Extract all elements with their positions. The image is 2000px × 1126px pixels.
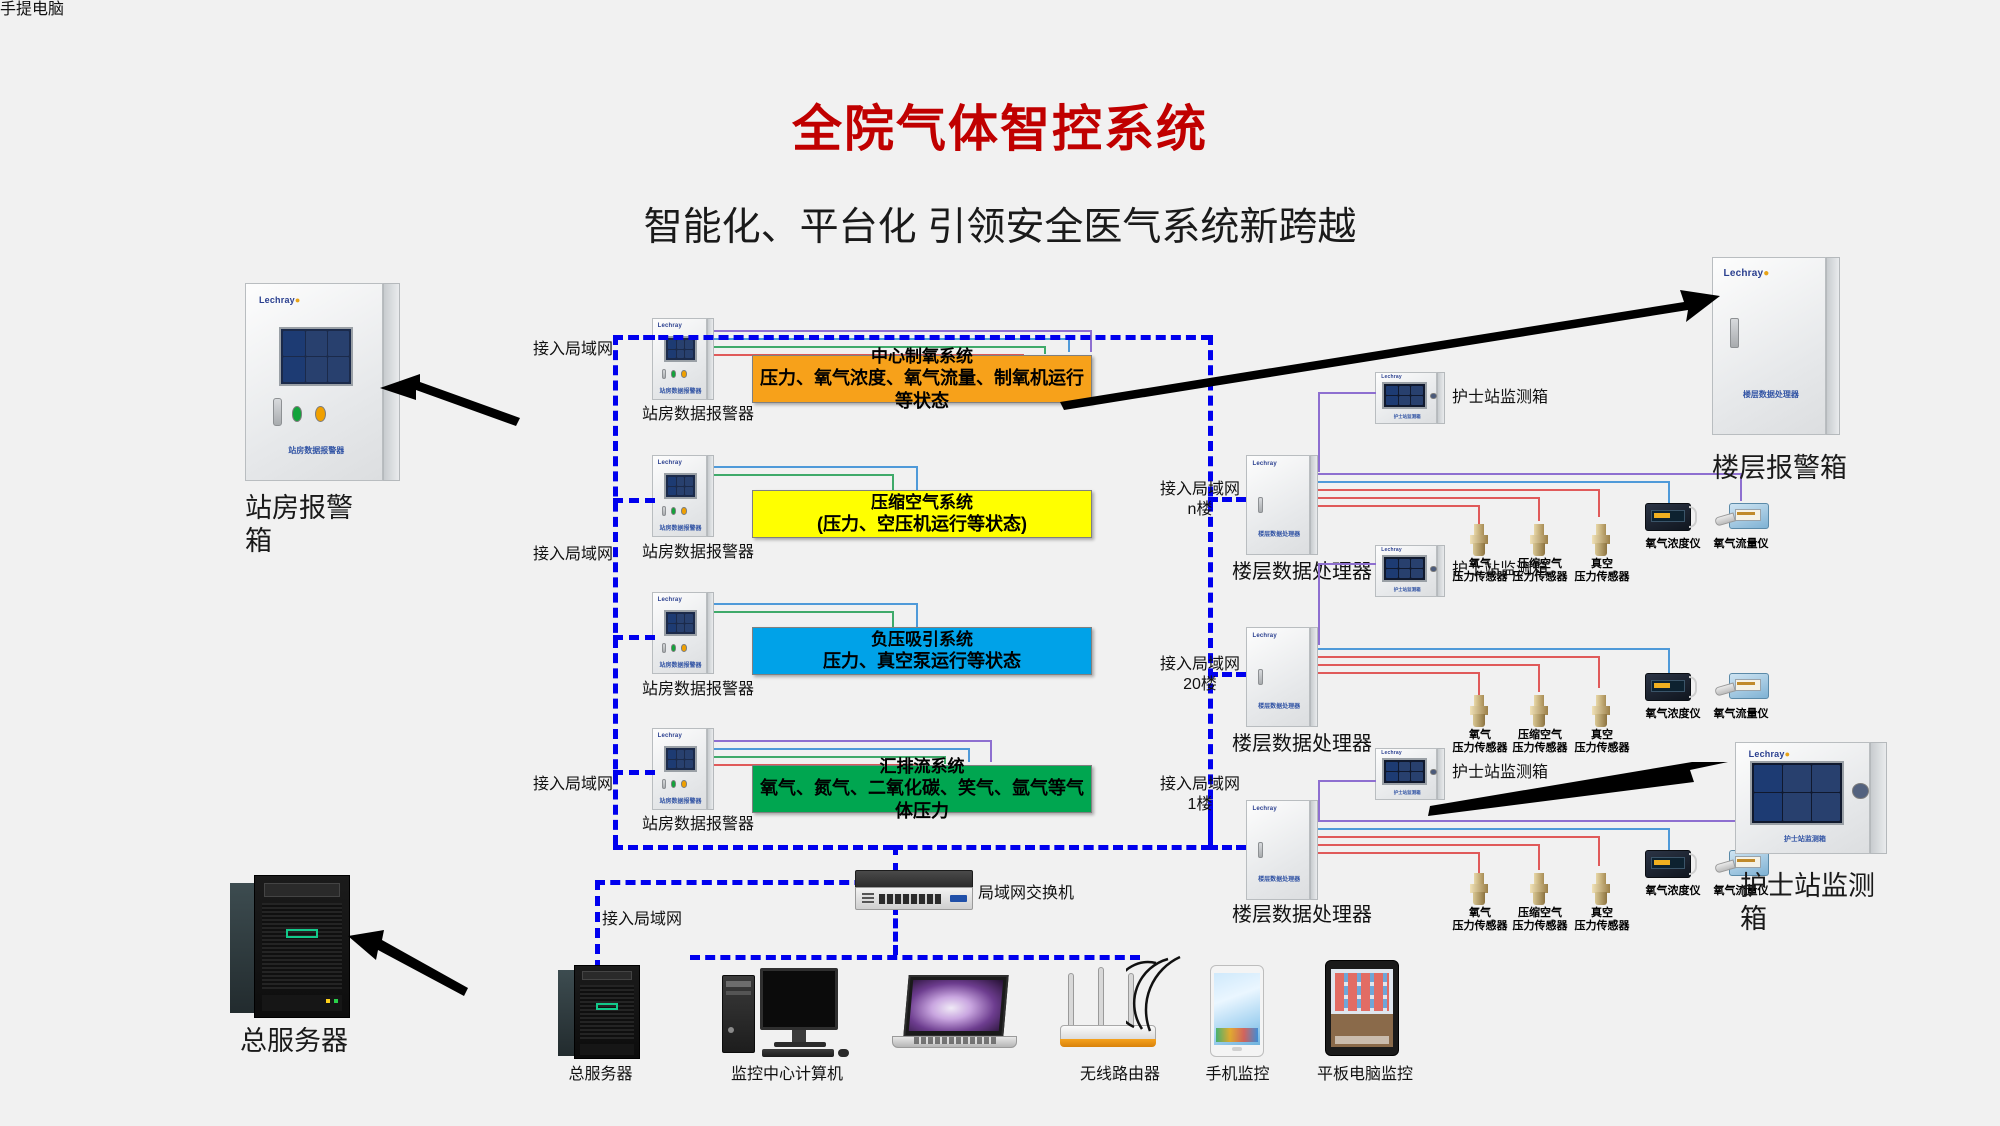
panel-handle-1 (662, 369, 666, 380)
system-name-1: 中心制氧系统 (871, 346, 973, 367)
brand-text-3: Lechray (1749, 749, 1785, 759)
panel-handle-3 (662, 643, 666, 654)
station-data-alarm-2: Lechray 站房数据报警器 (652, 455, 714, 537)
oxygen-concentration-meter-2 (1645, 850, 1697, 880)
sensor-label-2-2: 真空 压力传感器 (1562, 907, 1642, 933)
alarm-label-2: 站房数据报警器 (642, 543, 822, 563)
floor-nameplate-2: 楼层数据处理器 (1253, 874, 1305, 883)
panel-nameplate-3: 站房数据报警器 (658, 660, 703, 669)
brand-logo-nurse-2: Lechray (1381, 750, 1402, 756)
main-server-icon (230, 875, 350, 1020)
floor-alarm-side (1826, 257, 1840, 435)
bottom-device-label-5: 平板电脑监控 (1300, 1065, 1430, 1085)
desktop-computer-icon (722, 965, 852, 1060)
lan-trunk-bottom-right (893, 845, 1211, 850)
floor-nameplate-1: 楼层数据处理器 (1253, 701, 1305, 710)
bottom-server-icon (558, 965, 640, 1060)
wireless-router-icon (1060, 955, 1190, 1055)
station-data-alarm-3: Lechray 站房数据报警器 (652, 592, 714, 674)
pressure-sensor-1-1 (1528, 695, 1550, 727)
nurse-knob-1 (1430, 566, 1436, 572)
pressure-sensor-0-1 (1528, 524, 1550, 556)
amber-indicator-4 (681, 780, 687, 787)
panel-display-2 (664, 473, 696, 499)
panel-nameplate-2: 站房数据报警器 (658, 523, 703, 532)
pressure-sensor-2-0 (1468, 873, 1490, 905)
nurse-label-1: 护士站监测箱 (1452, 560, 1548, 580)
station-data-alarm-4: Lechray 站房数据报警器 (652, 728, 714, 810)
green-indicator (292, 406, 303, 422)
sensor-label-0-4: 氧气流量仪 (1700, 538, 1782, 551)
bottom-device-label-2: 手提电脑 (0, 0, 64, 20)
system-box-3: 负压吸引系统 压力、真空泵运行等状态 (752, 627, 1092, 675)
oxygen-concentration-meter-0 (1645, 503, 1697, 533)
diagram-canvas: 全院气体智控系统 智能化、平台化 引领安全医气系统新跨越 Lechray● 站房… (0, 0, 2000, 1126)
pressure-sensor-1-2 (1590, 695, 1612, 727)
server-lan-label: 接入局域网 (602, 910, 682, 930)
system-name-3: 负压吸引系统 (871, 629, 973, 650)
amber-indicator-1 (681, 370, 687, 377)
cabinet-nameplate: 站房数据报警器 (261, 445, 373, 456)
floor-lan-text-0: 接入局域网 (1160, 481, 1240, 498)
bottom-device-label-4: 手机监控 (1185, 1065, 1290, 1085)
sensor-label-1-4: 氧气流量仪 (1700, 708, 1782, 721)
amber-indicator-3 (681, 644, 687, 651)
brand-logo-floor-0: Lechray (1252, 461, 1276, 467)
alarm-label-3: 站房数据报警器 (642, 680, 822, 700)
arrow-to-nurse-station (1428, 760, 1728, 820)
floor-number-1: 20楼 (1183, 676, 1217, 693)
green-indicator-1 (671, 370, 677, 377)
system-detail-4: 氧气、氮气、二氧化碳、笑气、氩气等气体压力 (753, 777, 1091, 822)
floor-alarm-caption: 楼层报警箱 (1712, 452, 1952, 485)
lan-server-branch (595, 880, 895, 885)
system-box-2: 压缩空气系统 (压力、空压机运行等状态) (752, 490, 1092, 538)
nurse-nameplate-0: 护士站监测箱 (1382, 414, 1432, 420)
brand-logo-nurse-cabinet: Lechray● (1749, 749, 1791, 759)
system-detail-1: 压力、氧气浓度、氧气流量、制氧机运行等状态 (753, 367, 1091, 412)
system-name-2: 压缩空气系统 (871, 492, 973, 513)
system-box-4: 汇排流系统 氧气、氮气、二氧化碳、笑气、氩气等气体压力 (752, 765, 1092, 813)
amber-indicator-2 (681, 507, 687, 514)
floor-handle-1 (1258, 669, 1263, 685)
page-title: 全院气体智控系统 (0, 100, 2000, 159)
lan-drop-to-switch (893, 845, 898, 873)
nurse-cabinet-side (1870, 742, 1887, 854)
lan-label-system-4: 接入局域网 (533, 775, 613, 795)
tablet-icon (1325, 960, 1399, 1056)
arrow-to-floor-alarm (1060, 290, 1720, 410)
brand-logo-nurse-1: Lechray (1381, 547, 1402, 553)
panel-nameplate-1: 站房数据报警器 (658, 386, 703, 395)
panel-display-3 (664, 610, 696, 636)
cabinet-handle (273, 398, 282, 426)
floor-data-processor-0: Lechray 楼层数据处理器 (1246, 455, 1318, 555)
lan-server-drop (595, 880, 600, 970)
brand-text: Lechray (259, 295, 295, 305)
pressure-sensor-1-0 (1468, 695, 1490, 727)
arrow-to-main-server (348, 930, 468, 1005)
bottom-device-label-1: 监控中心计算机 (712, 1065, 862, 1085)
panel-handle-4 (662, 779, 666, 790)
green-indicator-2 (671, 507, 677, 514)
nurse-nameplate-2: 护士站监测箱 (1382, 790, 1432, 796)
nurse-cabinet-nameplate: 护士站监测箱 (1750, 834, 1859, 844)
network-switch-icon (855, 870, 973, 910)
station-alarm-cabinet: Lechray● 站房数据报警器 (245, 283, 400, 481)
brand-logo-floor-1: Lechray (1252, 633, 1276, 639)
oxygen-flow-meter-0 (1715, 501, 1771, 533)
system-detail-2: (压力、空压机运行等状态) (817, 513, 1027, 536)
system-box-1: 中心制氧系统 压力、氧气浓度、氧气流量、制氧机运行等状态 (752, 355, 1092, 403)
floor-processor-label-2: 楼层数据处理器 (1232, 903, 1412, 928)
pressure-sensor-0-0 (1468, 524, 1490, 556)
floor-data-processor-2: Lechray 楼层数据处理器 (1246, 800, 1318, 900)
brand-logo-small-3: Lechray (658, 597, 682, 603)
floor-data-processor-1: Lechray 楼层数据处理器 (1246, 627, 1318, 727)
amber-indicator (315, 406, 326, 422)
bottom-device-label-0: 总服务器 (538, 1065, 663, 1085)
bottom-device-label-3: 无线路由器 (1055, 1065, 1185, 1085)
brand-logo: Lechray● (259, 295, 301, 305)
nurse-display-2 (1382, 758, 1427, 785)
floor-nameplate-0: 楼层数据处理器 (1253, 529, 1305, 538)
brand-logo-small-2: Lechray (658, 460, 682, 466)
lan-branch-3 (613, 635, 655, 640)
oxygen-concentration-meter-1 (1645, 673, 1697, 703)
nurse-station-box-1: Lechray 护士站监测箱 (1375, 545, 1445, 597)
brand-text-2: Lechray (1724, 268, 1764, 279)
nurse-display-1 (1382, 555, 1427, 582)
sensor-label-0-2: 真空 压力传感器 (1562, 558, 1642, 584)
lan-drop-switch-down (893, 905, 898, 955)
floor-alarm-handle (1730, 318, 1739, 348)
oxygen-flow-meter-1 (1715, 671, 1771, 703)
cabinet-display (279, 327, 353, 386)
brand-logo-floor-alarm: Lechray● (1724, 268, 1770, 279)
nurse-station-cabinet: Lechray● 护士站监测箱 (1735, 742, 1887, 854)
green-indicator-3 (671, 644, 677, 651)
floor-number-2: 1楼 (1188, 796, 1213, 813)
brand-logo-small-1: Lechray (658, 323, 682, 329)
laptop-icon (892, 975, 1017, 1055)
sensor-label-1-2: 真空 压力传感器 (1562, 729, 1642, 755)
nurse-station-caption: 护士站监测 箱 (1740, 870, 1950, 936)
lan-trunk-bottom-left (613, 845, 893, 850)
nurse-cabinet-knob (1852, 783, 1869, 799)
lan-branch-2 (613, 498, 655, 503)
floor-lan-label-2: 接入局域网 1楼 (1140, 775, 1260, 815)
panel-display-4 (664, 746, 696, 772)
floor-lan-text-2: 接入局域网 (1160, 776, 1240, 793)
lan-trunk-left-vertical (613, 335, 618, 845)
nurse-cabinet-display (1750, 761, 1844, 825)
lan-branch-floor-1 (1208, 845, 1246, 850)
floor-alarm-cabinet: Lechray● 楼层数据处理器 (1712, 257, 1840, 435)
wifi-waves-icon (1126, 955, 1190, 1035)
green-indicator-4 (671, 780, 677, 787)
system-name-4: 汇排流系统 (880, 756, 965, 777)
system-detail-3: 压力、真空泵运行等状态 (823, 650, 1021, 673)
floor-lan-label-1: 接入局域网 20楼 (1140, 655, 1260, 695)
lan-label-system-1: 接入局域网 (533, 340, 613, 360)
lan-branch-4 (613, 770, 655, 775)
switch-label: 局域网交换机 (978, 884, 1074, 904)
floor-alarm-nameplate: 楼层数据处理器 (1725, 389, 1817, 400)
page-subtitle: 智能化、平台化 引领安全医气系统新跨越 (0, 205, 2000, 251)
floor-lan-text-1: 接入局域网 (1160, 656, 1240, 673)
lan-trunk-right-vertical (1208, 335, 1213, 845)
panel-nameplate-4: 站房数据报警器 (658, 796, 703, 805)
panel-handle-2 (662, 506, 666, 517)
brand-logo-floor-2: Lechray (1252, 806, 1276, 812)
pressure-sensor-0-2 (1590, 524, 1612, 556)
floor-number-0: n楼 (1188, 501, 1213, 518)
floor-handle-2 (1258, 842, 1263, 858)
floor-handle-0 (1258, 497, 1263, 513)
arrow-to-station-alarm (380, 370, 520, 440)
smartphone-icon (1210, 965, 1264, 1057)
pressure-sensor-2-1 (1528, 873, 1550, 905)
nurse-nameplate-1: 护士站监测箱 (1382, 587, 1432, 593)
lan-label-system-2: 接入局域网 (533, 545, 613, 565)
main-server-caption: 总服务器 (240, 1025, 460, 1058)
station-alarm-caption: 站房报警 箱 (245, 492, 425, 558)
floor-lan-label-0: 接入局域网 n楼 (1140, 480, 1260, 520)
pressure-sensor-2-2 (1590, 873, 1612, 905)
station-data-alarm-1: Lechray 站房数据报警器 (652, 318, 714, 400)
brand-logo-small-4: Lechray (658, 733, 682, 739)
